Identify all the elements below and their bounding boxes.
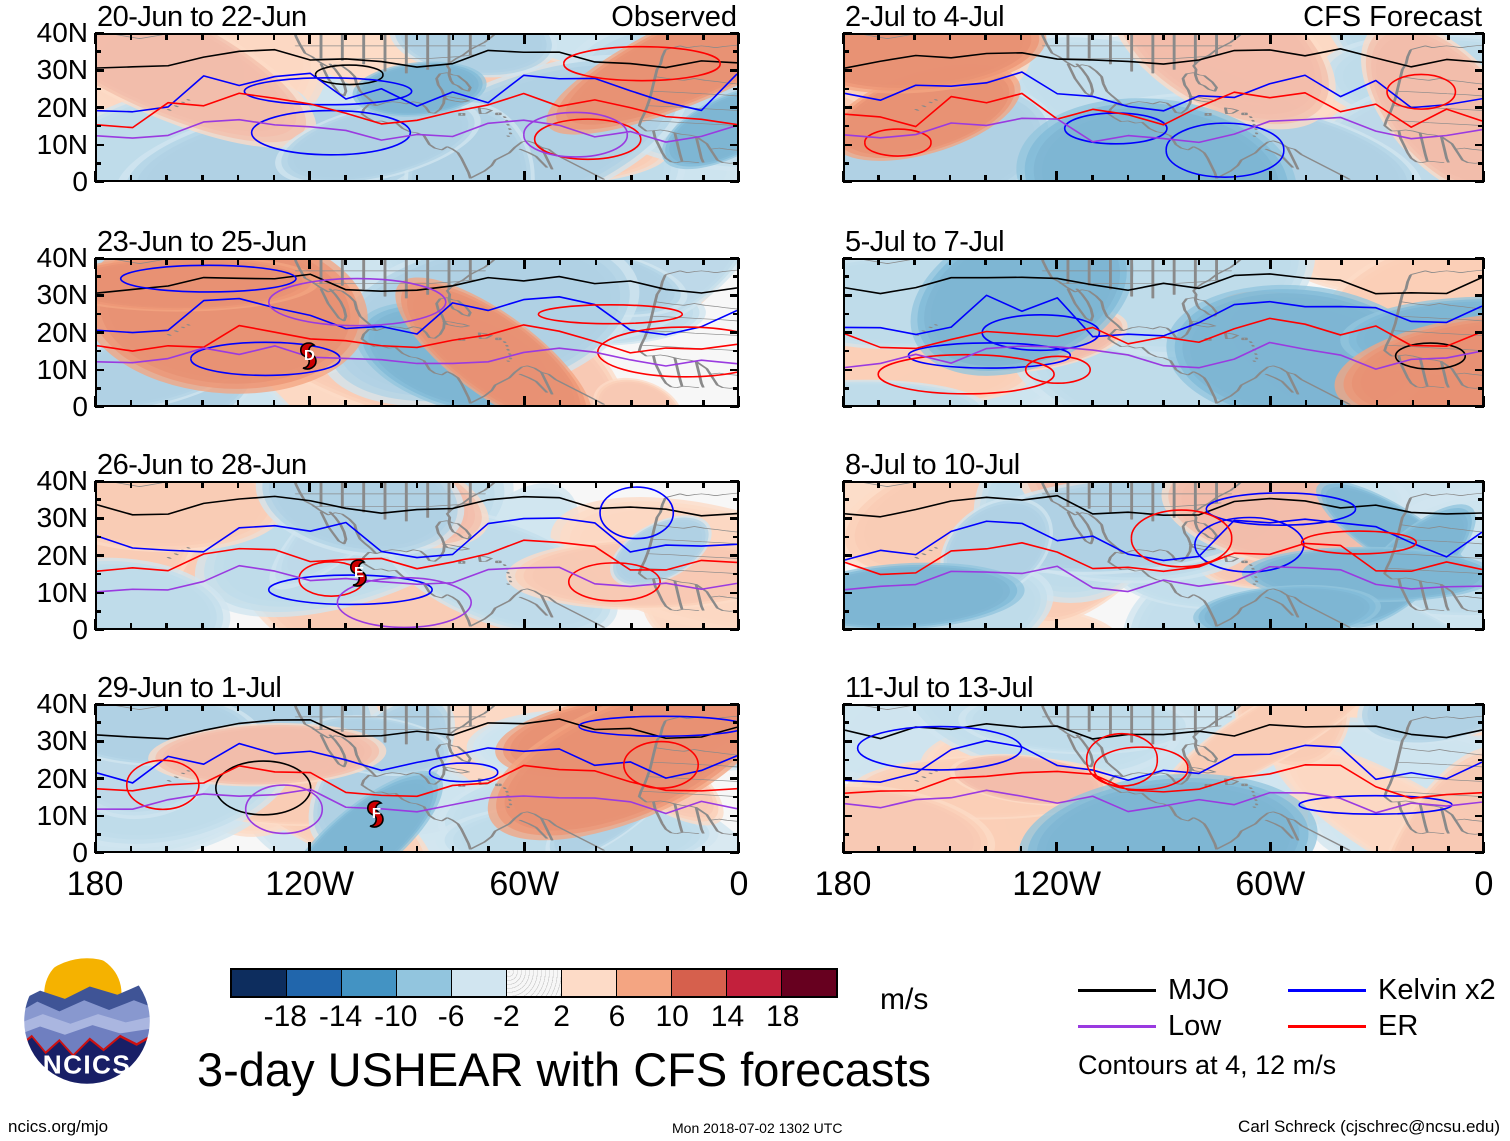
axis-tick-minor — [201, 846, 204, 853]
axis-tick-minor — [1478, 106, 1484, 109]
axis-tick-minor — [273, 481, 276, 488]
axis-tick-minor — [1340, 704, 1343, 711]
axis-tick-minor — [843, 144, 849, 147]
colorbar-tick-label: 18 — [766, 1002, 799, 1032]
axis-tick — [842, 481, 845, 492]
legend-label: Kelvin x2 — [1378, 976, 1496, 1005]
y-axis-label: 40N — [37, 690, 88, 718]
axis-tick-minor — [666, 846, 669, 853]
axis-tick-minor — [733, 313, 739, 316]
axis-tick-minor — [949, 258, 952, 265]
axis-tick-minor — [452, 481, 455, 488]
axis-tick-minor — [344, 258, 347, 265]
axis-tick-minor — [95, 721, 101, 724]
axis-tick-minor — [95, 125, 101, 128]
x-axis-label: 0 — [1475, 867, 1494, 901]
axis-tick-minor — [1478, 536, 1484, 539]
storm-marker-label: F — [363, 799, 389, 829]
axis-tick-minor — [1198, 400, 1201, 407]
axis-tick-minor — [1020, 33, 1023, 40]
axis-tick-minor — [559, 258, 562, 265]
axis-tick-minor — [130, 623, 133, 630]
axis-tick-minor — [1447, 481, 1450, 488]
axis-tick — [1055, 704, 1058, 715]
axis-tick-minor — [877, 258, 880, 265]
axis-tick-minor — [237, 846, 240, 853]
axis-tick-minor — [130, 258, 133, 265]
axis-tick — [308, 396, 311, 407]
axis-tick-minor — [1127, 175, 1130, 182]
colorbar-swatch — [452, 970, 507, 996]
axis-tick-minor — [201, 623, 204, 630]
axis-tick-minor — [1340, 400, 1343, 407]
axis-tick-minor — [273, 175, 276, 182]
axis-tick — [738, 258, 741, 269]
storm-marker-e: E — [346, 558, 372, 588]
axis-tick-minor — [595, 400, 598, 407]
axis-tick — [94, 704, 97, 715]
axis-tick-minor — [1412, 175, 1415, 182]
axis-tick-minor — [237, 175, 240, 182]
axis-tick-minor — [380, 481, 383, 488]
axis-tick — [843, 181, 852, 184]
axis-tick — [842, 258, 845, 269]
map-area — [95, 704, 739, 853]
axis-tick-minor — [344, 400, 347, 407]
axis-tick-minor — [416, 400, 419, 407]
axis-tick-minor — [733, 554, 739, 557]
axis-tick-minor — [949, 481, 952, 488]
axis-tick-minor — [165, 846, 168, 853]
axis-tick-minor — [95, 50, 101, 53]
axis-tick-minor — [913, 846, 916, 853]
map-panel-fcs-2: 5-Jul to 7-Jul — [843, 258, 1484, 407]
axis-tick-minor — [843, 331, 849, 334]
axis-tick — [1055, 171, 1058, 182]
axis-tick-minor — [702, 400, 705, 407]
axis-tick-minor — [630, 33, 633, 40]
axis-tick-minor — [95, 498, 101, 501]
axis-tick-minor — [1478, 275, 1484, 278]
column-header: Observed — [611, 3, 737, 32]
axis-tick-minor — [733, 517, 739, 520]
axis-tick-minor — [1162, 481, 1165, 488]
colorbar-swatch — [287, 970, 342, 996]
map-panel-obs-1: 20-Jun to 22-JunObserved40N30N20N10N0 — [95, 33, 739, 182]
axis-tick-minor — [344, 175, 347, 182]
axis-tick-minor — [1198, 33, 1201, 40]
axis-tick-minor — [487, 704, 490, 711]
panel-title: 29-Jun to 1-Jul — [97, 674, 281, 703]
axis-tick-minor — [1234, 704, 1237, 711]
colorbar-tick-label: 6 — [609, 1002, 626, 1032]
axis-tick-minor — [452, 846, 455, 853]
axis-tick-minor — [843, 610, 849, 613]
axis-tick-minor — [630, 846, 633, 853]
axis-tick-minor — [1447, 258, 1450, 265]
axis-tick — [843, 32, 852, 35]
axis-tick-minor — [1162, 846, 1165, 853]
axis-tick-minor — [733, 592, 739, 595]
axis-tick-minor — [487, 846, 490, 853]
axis-tick-minor — [344, 623, 347, 630]
map-panel-obs-4: 29-Jun to 1-Jul40N30N20N10N0180120W60W0 … — [95, 704, 739, 853]
map-panel-obs-3: 26-Jun to 28-Jun40N30N20N10N0 E — [95, 481, 739, 630]
axis-tick-minor — [1376, 481, 1379, 488]
axis-tick-minor — [201, 33, 204, 40]
colorbar-tick-label: 2 — [553, 1002, 570, 1032]
axis-tick-minor — [733, 88, 739, 91]
axis-tick-minor — [95, 573, 101, 576]
axis-tick-minor — [1127, 704, 1130, 711]
axis-tick-minor — [1091, 623, 1094, 630]
axis-tick-minor — [913, 258, 916, 265]
axis-tick — [308, 842, 311, 853]
axis-tick-minor — [877, 175, 880, 182]
axis-tick-minor — [1198, 258, 1201, 265]
axis-tick-minor — [702, 175, 705, 182]
axis-tick — [738, 171, 741, 182]
axis-tick-minor — [487, 175, 490, 182]
axis-tick-minor — [559, 400, 562, 407]
axis-tick-minor — [1478, 331, 1484, 334]
axis-tick-minor — [95, 275, 101, 278]
axis-tick-minor — [1478, 498, 1484, 501]
legend-row: MJOKelvin x2 — [1078, 972, 1498, 1008]
axis-tick — [1483, 171, 1486, 182]
axis-tick-minor — [273, 33, 276, 40]
axis-tick-minor — [949, 623, 952, 630]
axis-tick-minor — [1020, 258, 1023, 265]
axis-tick-minor — [843, 369, 849, 372]
axis-tick-minor — [1376, 846, 1379, 853]
colorbar-tick-label: -18 — [264, 1002, 307, 1032]
axis-tick-minor — [733, 331, 739, 334]
axis-tick-minor — [1376, 175, 1379, 182]
axis-tick-minor — [1127, 400, 1130, 407]
axis-tick-minor — [559, 623, 562, 630]
axis-tick-minor — [1162, 175, 1165, 182]
axis-tick — [1269, 258, 1272, 269]
legend-label: MJO — [1168, 976, 1229, 1005]
axis-tick-minor — [1478, 387, 1484, 390]
axis-tick-minor — [733, 162, 739, 165]
colorbar-swatch — [617, 970, 672, 996]
axis-tick-minor — [733, 294, 739, 297]
axis-tick — [94, 842, 97, 853]
axis-tick-minor — [1020, 704, 1023, 711]
axis-tick — [523, 396, 526, 407]
axis-tick-minor — [1412, 623, 1415, 630]
legend-item-mjo: MJO — [1078, 976, 1288, 1005]
y-axis-label: 40N — [37, 467, 88, 495]
axis-tick-minor — [702, 623, 705, 630]
y-axis-label: 10N — [37, 579, 88, 607]
axis-tick-minor — [1447, 400, 1450, 407]
axis-tick — [94, 171, 97, 182]
axis-tick-minor — [95, 592, 101, 595]
axis-tick-minor — [630, 258, 633, 265]
legend-line-swatch — [1288, 989, 1366, 992]
axis-tick-minor — [733, 350, 739, 353]
axis-tick-minor — [733, 740, 739, 743]
colorbar-units-label: m/s — [880, 985, 928, 1015]
axis-tick-minor — [1340, 846, 1343, 853]
axis-tick-minor — [1198, 704, 1201, 711]
axis-tick — [1055, 33, 1058, 44]
axis-tick — [843, 480, 852, 483]
axis-tick-minor — [1091, 704, 1094, 711]
axis-tick-minor — [1305, 481, 1308, 488]
x-axis-label: 120W — [1012, 867, 1101, 901]
axis-tick-minor — [913, 33, 916, 40]
legend-item-low: Low — [1078, 1012, 1288, 1041]
axis-tick-minor — [1447, 704, 1450, 711]
colorbar-tick-label: -2 — [493, 1002, 520, 1032]
axis-tick-minor — [843, 721, 849, 724]
y-axis-label: 0 — [72, 168, 88, 196]
axis-tick-minor — [1478, 796, 1484, 799]
axis-tick-minor — [733, 573, 739, 576]
contour-legend: MJOKelvin x2LowER — [1078, 972, 1498, 1044]
axis-tick-minor — [559, 704, 562, 711]
axis-tick — [95, 480, 104, 483]
axis-tick — [843, 257, 852, 260]
axis-tick-minor — [201, 481, 204, 488]
axis-tick-minor — [237, 704, 240, 711]
colorbar-swatch — [562, 970, 617, 996]
axis-tick-minor — [984, 175, 987, 182]
legend-label: Low — [1168, 1012, 1221, 1041]
legend-note: Contours at 4, 12 m/s — [1078, 1052, 1336, 1079]
storm-marker-label: E — [346, 558, 372, 588]
axis-tick — [308, 258, 311, 269]
y-axis-label: 30N — [37, 281, 88, 309]
colorbar-swatch — [727, 970, 782, 996]
axis-tick-minor — [843, 517, 849, 520]
axis-tick — [95, 406, 104, 409]
svg-text:NCICS: NCICS — [43, 1049, 131, 1079]
colorbar-swatch — [397, 970, 452, 996]
axis-tick-minor — [913, 623, 916, 630]
axis-tick — [94, 481, 97, 492]
axis-tick — [738, 481, 741, 492]
column-header: CFS Forecast — [1303, 3, 1482, 32]
axis-tick — [523, 33, 526, 44]
axis-tick-minor — [130, 33, 133, 40]
storm-marker-f: F — [363, 799, 389, 829]
axis-tick — [1483, 396, 1486, 407]
axis-tick-minor — [630, 481, 633, 488]
axis-tick-minor — [1020, 175, 1023, 182]
y-axis-label: 40N — [37, 244, 88, 272]
axis-tick-minor — [380, 400, 383, 407]
axis-tick-minor — [843, 294, 849, 297]
axis-tick-minor — [1020, 623, 1023, 630]
axis-tick-minor — [1127, 33, 1130, 40]
colorbar — [230, 968, 838, 998]
axis-tick-minor — [1412, 400, 1415, 407]
axis-tick-minor — [733, 50, 739, 53]
axis-tick-minor — [452, 400, 455, 407]
axis-tick-minor — [843, 162, 849, 165]
axis-tick-minor — [344, 846, 347, 853]
axis-tick-minor — [1447, 623, 1450, 630]
axis-tick-minor — [984, 33, 987, 40]
axis-tick-minor — [949, 704, 952, 711]
map-panel-fcs-1: 2-Jul to 4-JulCFS Forecast — [843, 33, 1484, 182]
axis-tick-minor — [702, 33, 705, 40]
footer-left[interactable]: ncics.org/mjo — [8, 1118, 108, 1135]
legend-line-swatch — [1078, 989, 1156, 992]
axis-tick — [1055, 258, 1058, 269]
axis-tick — [1483, 481, 1486, 492]
axis-tick — [842, 33, 845, 44]
axis-tick-minor — [1376, 623, 1379, 630]
axis-tick-minor — [843, 387, 849, 390]
axis-tick — [1483, 619, 1486, 630]
axis-tick — [843, 703, 852, 706]
colorbar-swatch — [232, 970, 287, 996]
axis-tick — [1483, 258, 1486, 269]
axis-tick-minor — [201, 258, 204, 265]
axis-tick-minor — [1340, 175, 1343, 182]
axis-tick-minor — [702, 846, 705, 853]
axis-tick — [1269, 396, 1272, 407]
axis-tick-minor — [702, 704, 705, 711]
axis-tick-minor — [237, 400, 240, 407]
axis-tick-minor — [1198, 846, 1201, 853]
colorbar-swatch — [507, 970, 562, 996]
axis-tick-minor — [1162, 33, 1165, 40]
axis-tick-minor — [130, 481, 133, 488]
axis-tick-minor — [1305, 846, 1308, 853]
axis-tick-minor — [273, 400, 276, 407]
axis-tick-minor — [1340, 623, 1343, 630]
axis-tick — [308, 171, 311, 182]
axis-tick-minor — [95, 610, 101, 613]
map-panel-fcs-4: 11-Jul to 13-Jul180120W60W0 — [843, 704, 1484, 853]
storm-marker-d: D — [296, 341, 322, 371]
axis-tick-minor — [913, 481, 916, 488]
axis-tick-minor — [984, 481, 987, 488]
axis-tick-minor — [273, 623, 276, 630]
axis-tick-minor — [95, 536, 101, 539]
axis-tick-minor — [237, 33, 240, 40]
axis-tick — [738, 704, 741, 715]
axis-tick-minor — [95, 387, 101, 390]
axis-tick — [94, 619, 97, 630]
y-axis-label: 30N — [37, 56, 88, 84]
axis-tick-minor — [733, 125, 739, 128]
footer-right: Carl Schreck (cjschrec@ncsu.edu) — [1238, 1118, 1500, 1135]
axis-tick-minor — [733, 144, 739, 147]
map-area — [843, 258, 1484, 407]
axis-tick — [843, 852, 852, 855]
axis-tick — [523, 171, 526, 182]
colorbar-tick-label: -10 — [374, 1002, 417, 1032]
axis-tick-minor — [380, 623, 383, 630]
axis-tick — [308, 619, 311, 630]
axis-tick-minor — [1234, 33, 1237, 40]
main-title: 3-day USHEAR with CFS forecasts — [197, 1046, 931, 1093]
axis-tick-minor — [949, 400, 952, 407]
axis-tick-minor — [733, 387, 739, 390]
axis-tick-minor — [733, 498, 739, 501]
axis-tick-minor — [1091, 846, 1094, 853]
axis-tick — [94, 396, 97, 407]
colorbar-tick-label: 14 — [711, 1002, 744, 1032]
axis-tick-minor — [487, 623, 490, 630]
axis-tick — [1269, 481, 1272, 492]
axis-tick-minor — [733, 275, 739, 278]
axis-tick — [95, 181, 104, 184]
axis-tick-minor — [843, 573, 849, 576]
axis-tick-minor — [702, 481, 705, 488]
axis-tick-minor — [1234, 481, 1237, 488]
axis-tick-minor — [1478, 592, 1484, 595]
axis-tick-minor — [1305, 704, 1308, 711]
axis-tick-minor — [733, 833, 739, 836]
axis-tick-minor — [487, 400, 490, 407]
colorbar-swatch — [672, 970, 727, 996]
colorbar-swatch — [342, 970, 397, 996]
storm-marker-label: D — [296, 341, 322, 371]
axis-tick-minor — [452, 623, 455, 630]
axis-tick-minor — [843, 106, 849, 109]
axis-tick-minor — [344, 704, 347, 711]
axis-tick-minor — [1162, 400, 1165, 407]
axis-tick-minor — [843, 88, 849, 91]
axis-tick-minor — [273, 704, 276, 711]
axis-tick-minor — [843, 350, 849, 353]
axis-tick-minor — [273, 258, 276, 265]
axis-tick-minor — [130, 175, 133, 182]
axis-tick-minor — [416, 258, 419, 265]
axis-tick-minor — [595, 481, 598, 488]
axis-tick — [842, 842, 845, 853]
axis-tick-minor — [1478, 88, 1484, 91]
axis-tick-minor — [344, 33, 347, 40]
x-axis-label: 120W — [265, 867, 354, 901]
axis-tick-minor — [1162, 258, 1165, 265]
axis-tick-minor — [1340, 33, 1343, 40]
axis-tick-minor — [165, 481, 168, 488]
axis-tick — [523, 842, 526, 853]
axis-tick-minor — [1447, 175, 1450, 182]
axis-tick-minor — [913, 704, 916, 711]
axis-tick-minor — [1478, 573, 1484, 576]
y-axis-label: 0 — [72, 616, 88, 644]
axis-tick-minor — [95, 815, 101, 818]
axis-tick-minor — [843, 125, 849, 128]
legend-label: ER — [1378, 1012, 1418, 1041]
axis-tick — [1055, 619, 1058, 630]
y-axis-label: 20N — [37, 94, 88, 122]
axis-tick — [308, 481, 311, 492]
axis-tick — [1483, 842, 1486, 853]
axis-tick-minor — [95, 88, 101, 91]
axis-tick — [95, 32, 104, 35]
axis-tick-minor — [487, 481, 490, 488]
map-panel-obs-2: 23-Jun to 25-Jun40N30N20N10N0 D — [95, 258, 739, 407]
axis-tick-minor — [416, 846, 419, 853]
axis-tick — [1269, 842, 1272, 853]
axis-tick-minor — [666, 175, 669, 182]
y-axis-label: 10N — [37, 802, 88, 830]
panel-title: 20-Jun to 22-Jun — [97, 3, 307, 32]
axis-tick-minor — [1305, 175, 1308, 182]
